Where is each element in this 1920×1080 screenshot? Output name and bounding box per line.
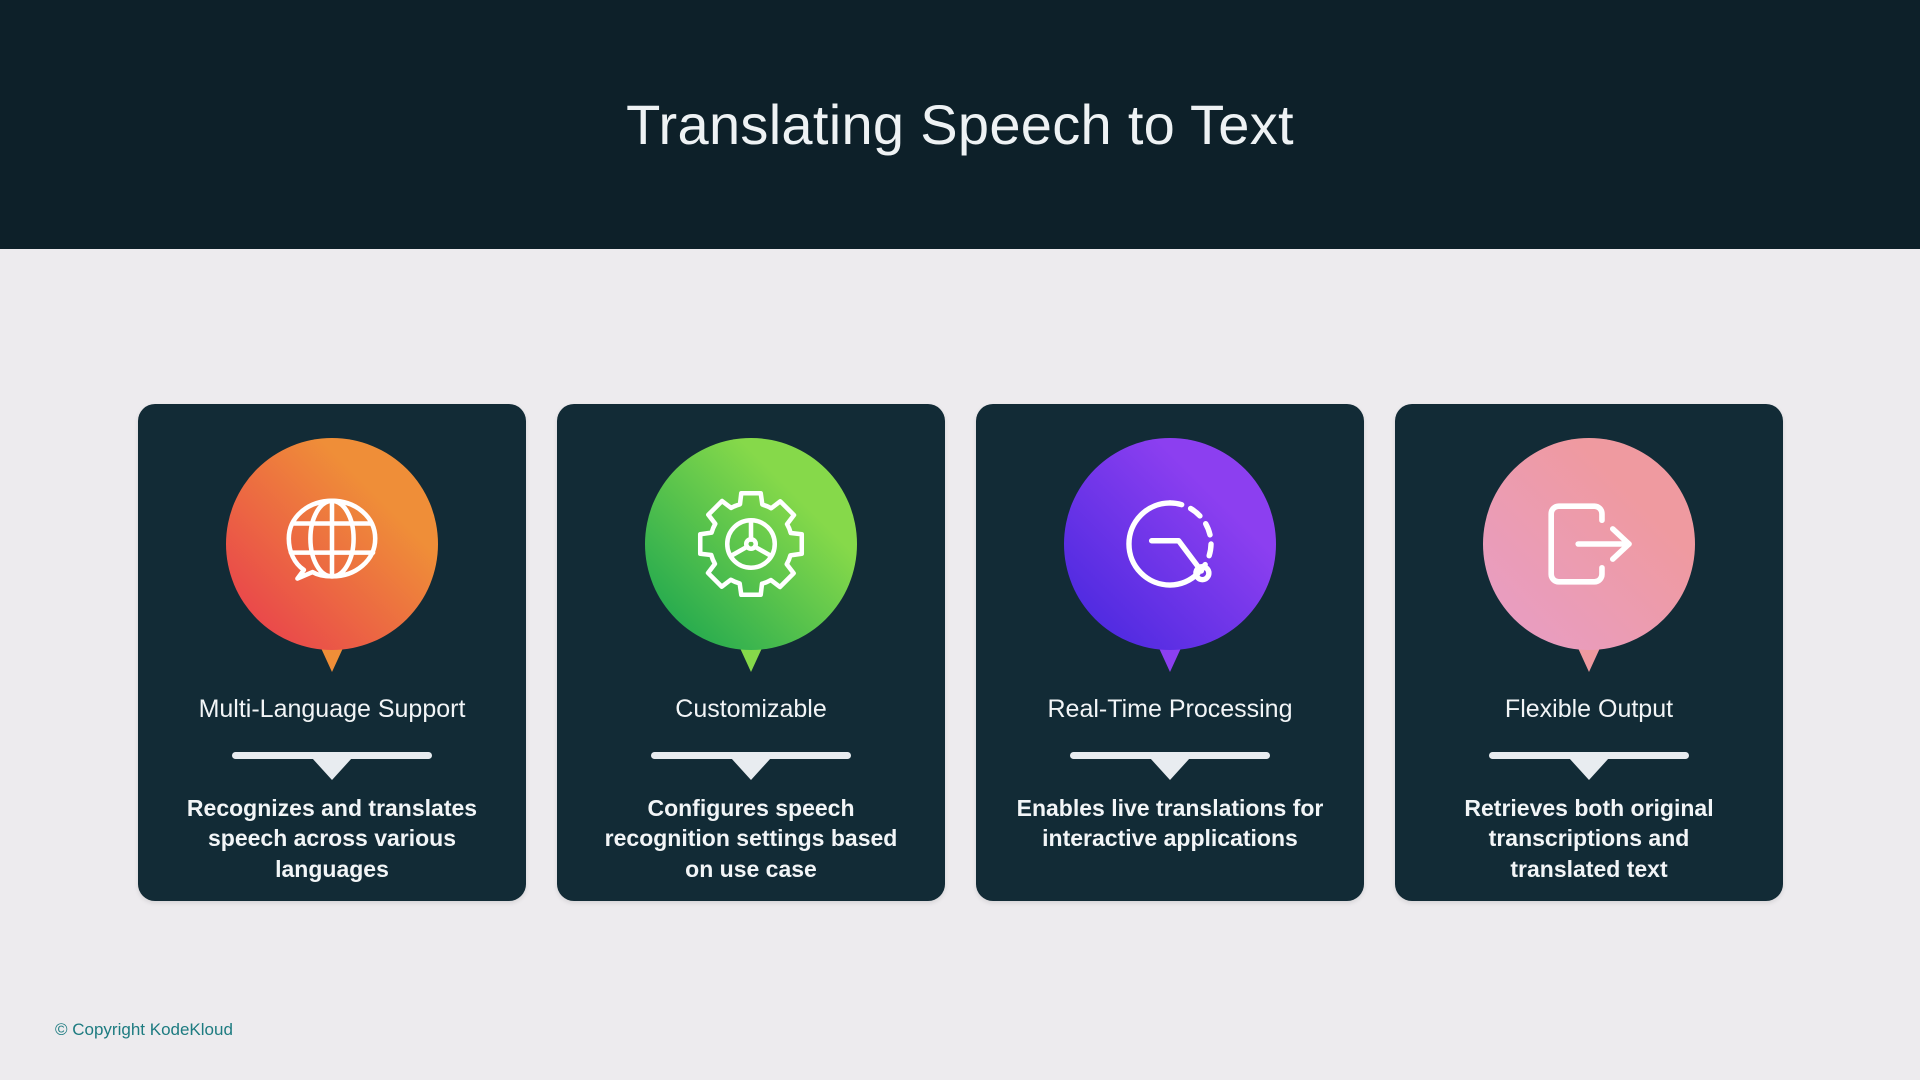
card-divider (651, 752, 851, 759)
pin-circle-1 (226, 438, 438, 650)
page-title: Translating Speech to Text (626, 97, 1294, 153)
pin-circle-2 (645, 438, 857, 650)
slide-header: Translating Speech to Text (0, 0, 1920, 249)
export-arrow-icon (1535, 490, 1643, 598)
feature-card[interactable]: Real-Time Processing Enables live transl… (976, 404, 1364, 901)
card-title: Flexible Output (1505, 694, 1673, 724)
pin-circle-3 (1064, 438, 1276, 650)
icon-pin (645, 438, 857, 674)
icon-pin (1064, 438, 1276, 674)
card-title: Real-Time Processing (1048, 694, 1293, 724)
globe-speech-bubble-icon (278, 490, 386, 598)
clock-timer-icon (1116, 490, 1224, 598)
feature-card[interactable]: Customizable Configures speech recogniti… (557, 404, 945, 901)
card-divider (1489, 752, 1689, 759)
pin-circle-4 (1483, 438, 1695, 650)
card-title: Multi-Language Support (199, 694, 466, 724)
icon-pin (1483, 438, 1695, 674)
card-divider (1070, 752, 1270, 759)
card-title: Customizable (675, 694, 826, 724)
card-description: Retrieves both original transcriptions a… (1433, 793, 1745, 884)
feature-card[interactable]: Multi-Language Support Recognizes and tr… (138, 404, 526, 901)
slide: Translating Speech to Text (0, 0, 1920, 1080)
footer-copyright: © Copyright KodeKloud (55, 1020, 233, 1040)
card-description: Recognizes and translates speech across … (176, 793, 488, 884)
card-divider (232, 752, 432, 759)
feature-card-list: Multi-Language Support Recognizes and tr… (138, 404, 1783, 901)
card-description: Configures speech recognition settings b… (595, 793, 907, 884)
feature-card[interactable]: Flexible Output Retrieves both original … (1395, 404, 1783, 901)
card-description: Enables live translations for interactiv… (1014, 793, 1326, 854)
gear-icon (697, 490, 805, 598)
icon-pin (226, 438, 438, 674)
